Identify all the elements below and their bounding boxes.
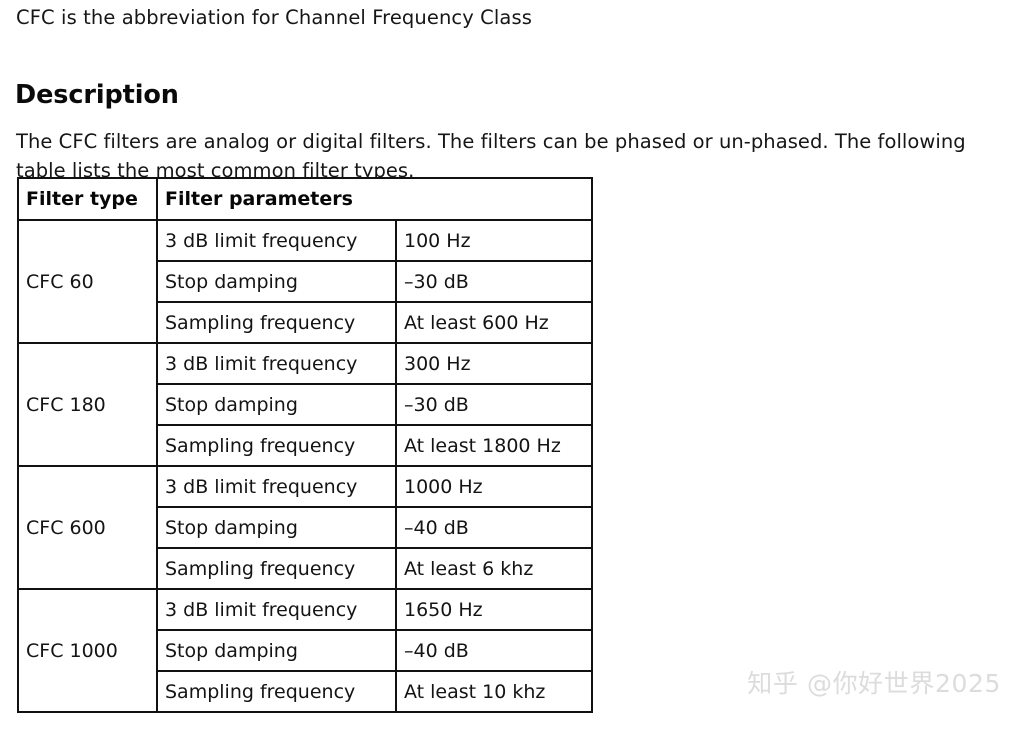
description-paragraph: The CFC filters are analog or digital fi… [16,127,996,185]
watermark: 知乎 @你好世界2025 [747,668,1001,700]
cell-parameter: 3 dB limit frequency [157,466,396,507]
cell-value: 1000 Hz [396,466,592,507]
cell-parameter: Stop damping [157,261,396,302]
cell-value: –30 dB [396,384,592,425]
cell-filter-type: CFC 600 [18,466,157,589]
cell-value: At least 600 Hz [396,302,592,343]
cell-filter-type: CFC 180 [18,343,157,466]
table-row: CFC 180 3 dB limit frequency 300 Hz [18,343,592,384]
table-header: Filter type Filter parameters [18,178,592,220]
cell-parameter: Stop damping [157,384,396,425]
table-row: CFC 600 3 dB limit frequency 1000 Hz [18,466,592,507]
cell-parameter: 3 dB limit frequency [157,343,396,384]
cell-parameter: 3 dB limit frequency [157,220,396,261]
cell-parameter: Sampling frequency [157,671,396,712]
cell-filter-type: CFC 60 [18,220,157,343]
cell-value: 300 Hz [396,343,592,384]
cell-parameter: Stop damping [157,507,396,548]
intro-line: CFC is the abbreviation for Channel Freq… [16,5,532,31]
column-header-filter-parameters: Filter parameters [157,178,592,220]
cell-value: 100 Hz [396,220,592,261]
cell-parameter: 3 dB limit frequency [157,589,396,630]
column-header-filter-type: Filter type [18,178,157,220]
cell-parameter: Sampling frequency [157,548,396,589]
table-body: CFC 60 3 dB limit frequency 100 Hz Stop … [18,220,592,712]
cell-value: –40 dB [396,507,592,548]
cell-value: –30 dB [396,261,592,302]
filter-types-table: Filter type Filter parameters CFC 60 3 d… [17,177,593,713]
cell-value: –40 dB [396,630,592,671]
cell-parameter: Stop damping [157,630,396,671]
table-row: CFC 1000 3 dB limit frequency 1650 Hz [18,589,592,630]
cell-value: 1650 Hz [396,589,592,630]
cell-parameter: Sampling frequency [157,302,396,343]
cell-value: At least 10 khz [396,671,592,712]
table-row: CFC 60 3 dB limit frequency 100 Hz [18,220,592,261]
cell-parameter: Sampling frequency [157,425,396,466]
table-header-row: Filter type Filter parameters [18,178,592,220]
cell-filter-type: CFC 1000 [18,589,157,712]
cell-value: At least 1800 Hz [396,425,592,466]
page-title: Description [15,79,179,111]
document-page: CFC is the abbreviation for Channel Freq… [0,0,1019,730]
cell-value: At least 6 khz [396,548,592,589]
